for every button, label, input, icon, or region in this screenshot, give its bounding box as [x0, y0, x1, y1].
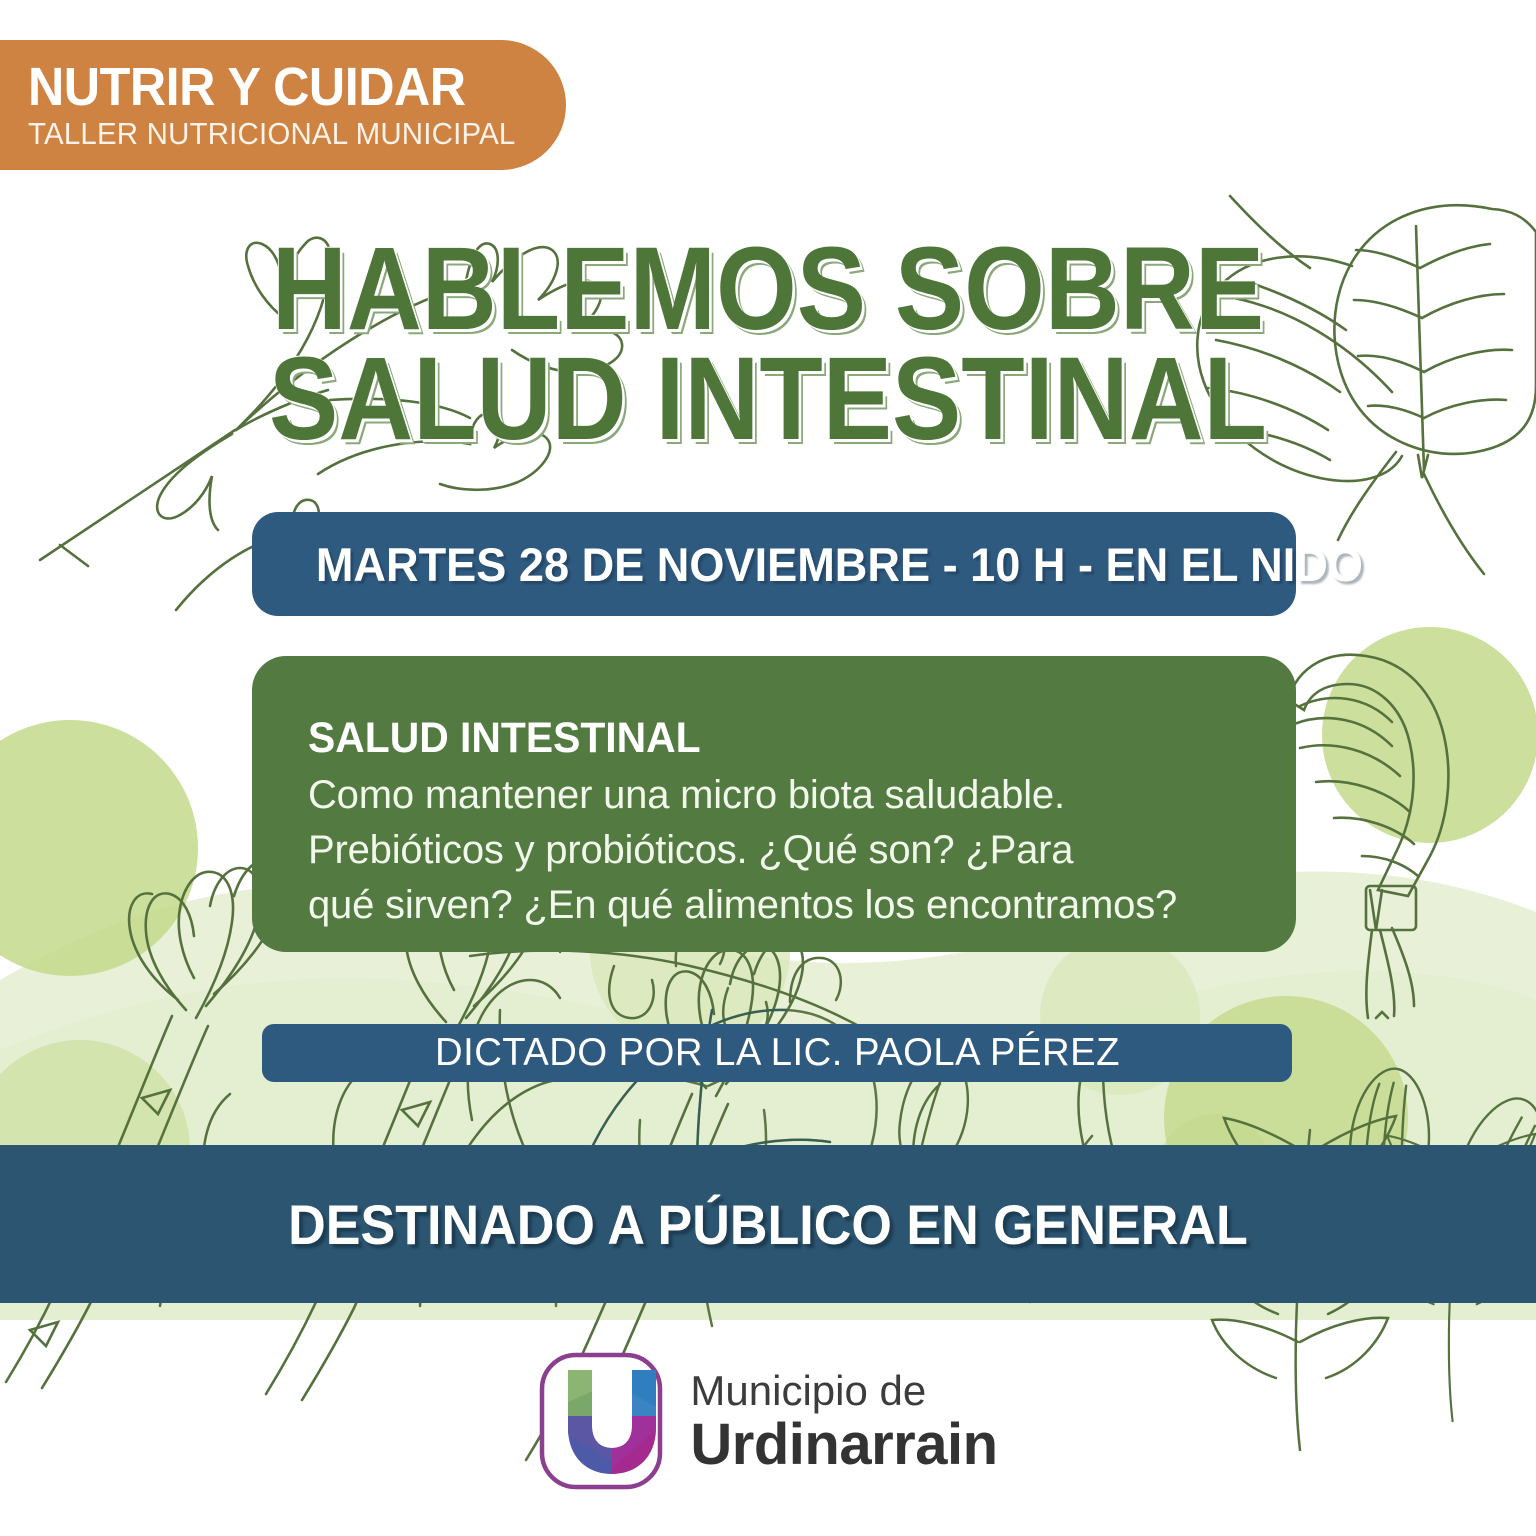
poster-canvas: NUTRIR Y CUIDAR TALLER NUTRICIONAL MUNIC… — [0, 0, 1536, 1536]
event-datetime-text: MARTES 28 DE NOVIEMBRE - 10 H - EN EL NI… — [316, 537, 1363, 592]
u-monogram-icon — [538, 1352, 664, 1492]
audience-text: DESTINADO A PÚBLICO EN GENERAL — [288, 1192, 1248, 1257]
speaker-text: DICTADO POR LA LIC. PAOLA PÉREZ — [435, 1031, 1120, 1075]
topic-heading: SALUD INTESTINAL — [308, 714, 1197, 762]
program-tag-subtitle: TALLER NUTRICIONAL MUNICIPAL — [28, 116, 539, 152]
topic-body-line-2: Prebióticos y probióticos. ¿Qué son? ¿Pa… — [308, 823, 1244, 878]
footer-logo-text: Municipio de Urdinarrain — [690, 1352, 997, 1476]
page-title-line-2: SALUD INTESTINAL — [92, 344, 1444, 454]
curved-squash-icon — [1288, 655, 1448, 1018]
audience-band: DESTINADO A PÚBLICO EN GENERAL — [0, 1145, 1536, 1303]
footer-logo: Municipio de Urdinarrain — [0, 1352, 1536, 1536]
footer-logo-line-1: Municipio de — [690, 1368, 997, 1414]
program-tag: NUTRIR Y CUIDAR TALLER NUTRICIONAL MUNIC… — [0, 40, 566, 170]
topic-body-line-1: Como mantener una micro biota saludable. — [308, 768, 1244, 823]
program-tag-title: NUTRIR Y CUIDAR — [28, 58, 528, 116]
topic-description-card: SALUD INTESTINAL Como mantener una micro… — [252, 656, 1296, 952]
page-title: HABLEMOS SOBRE SALUD INTESTINAL — [0, 234, 1536, 454]
topic-body-line-3: qué sirven? ¿En qué alimentos los encont… — [308, 878, 1244, 933]
footer-logo-line-2: Urdinarrain — [690, 1414, 997, 1476]
speaker-bar: DICTADO POR LA LIC. PAOLA PÉREZ — [262, 1024, 1292, 1082]
event-datetime-bar: MARTES 28 DE NOVIEMBRE - 10 H - EN EL NI… — [252, 512, 1296, 616]
page-title-line-1: HABLEMOS SOBRE — [92, 234, 1444, 344]
